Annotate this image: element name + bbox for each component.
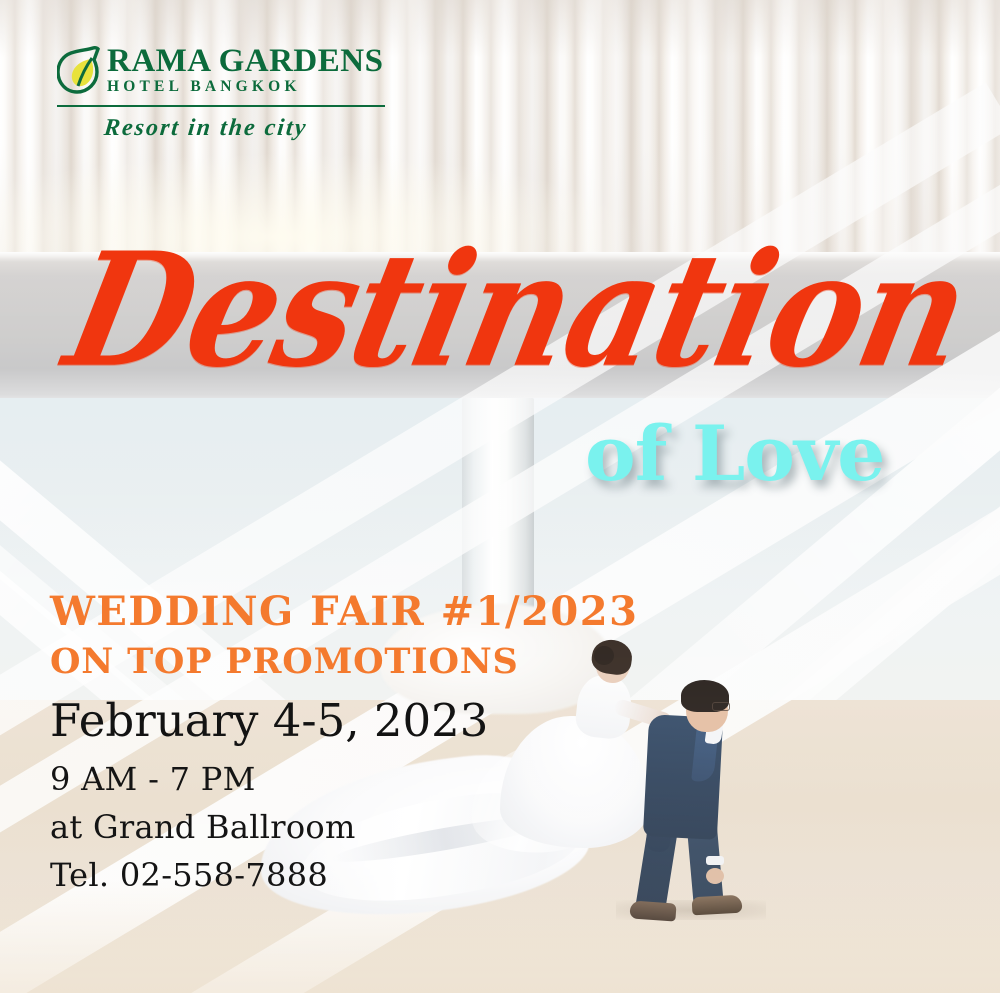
logo-tagline: Resort in the city — [103, 115, 389, 142]
logo-title: RAMA GARDENS — [107, 44, 383, 78]
contact-phone: Tel. 02-558-7888 — [50, 851, 670, 899]
wedding-fair-title: WEDDING FAIR #1/2023 — [50, 588, 670, 635]
event-hours: 9 AM - 7 PM — [50, 755, 670, 803]
headline-accent-of-love: of Love — [585, 414, 885, 494]
wedding-fair-poster: RAMA GARDENS HOTEL BANGKOK Resort in the… — [0, 0, 1000, 993]
logo-subtitle: HOTEL BANGKOK — [107, 78, 383, 96]
event-venue: at Grand Ballroom — [50, 803, 670, 851]
headline-script-destination: Destination — [54, 227, 950, 395]
leaf-icon — [57, 46, 101, 94]
groom-shoe — [692, 895, 743, 916]
event-date: February 4-5, 2023 — [50, 693, 670, 749]
groom-hand — [706, 868, 724, 884]
logo-divider-rule — [57, 105, 385, 107]
promotions-subtitle: ON TOP PROMOTIONS — [50, 640, 670, 684]
event-info-block: WEDDING FAIR #1/2023 ON TOP PROMOTIONS F… — [50, 588, 670, 899]
hotel-logo: RAMA GARDENS HOTEL BANGKOK Resort in the… — [57, 44, 387, 142]
groom-shoe — [629, 900, 676, 921]
groom-glasses — [712, 702, 730, 711]
groom-cuff — [706, 856, 724, 865]
